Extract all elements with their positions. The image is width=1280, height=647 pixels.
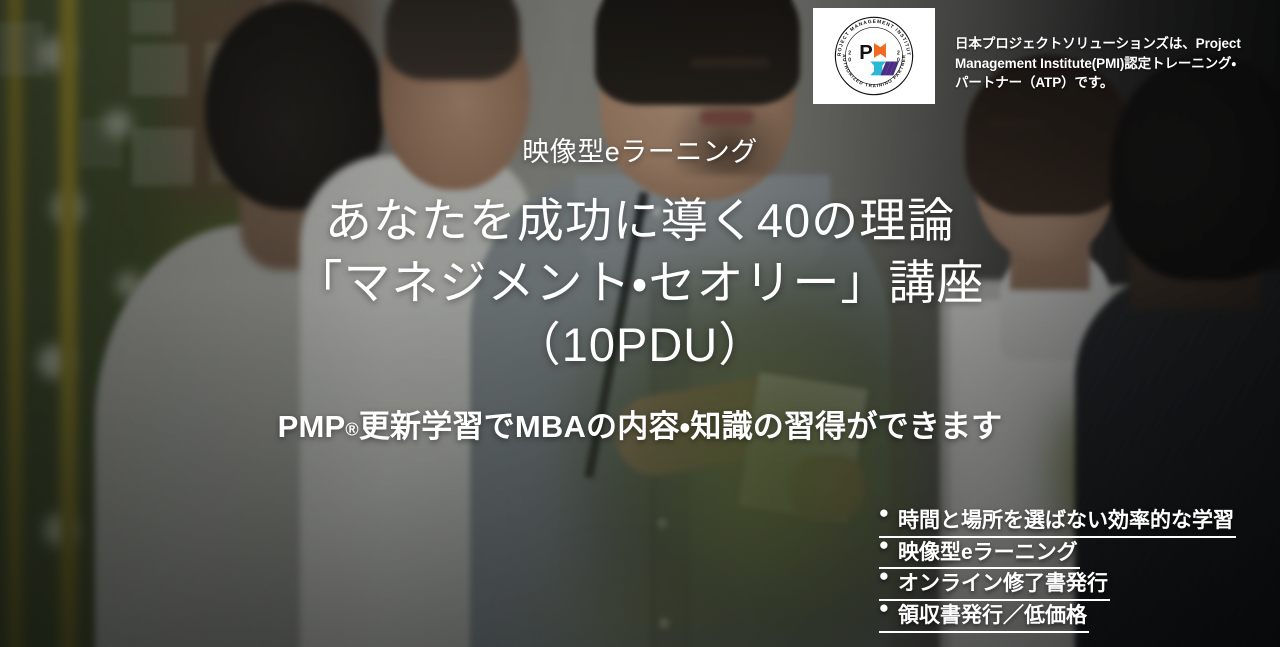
subheadline: PMP®更新学習でMBAの内容・知識の習得ができます — [0, 408, 1280, 447]
headline-stack: 映像型eラーニング あなたを成功に導く40の理論 「マネジメント・セオリー」講座… — [0, 136, 1280, 447]
svg-text:0: 0 — [848, 58, 851, 64]
svg-text:2: 2 — [848, 51, 851, 57]
hero-banner: PROJECT MANAGEMENT INSTITUTE AUTHORIZED … — [0, 0, 1280, 647]
atp-credential-block: PROJECT MANAGEMENT INSTITUTE AUTHORIZED … — [813, 8, 1245, 104]
list-item: ● 時間と場所を選ばない効率的な学習 — [879, 506, 1236, 538]
feature-label: 時間と場所を選ばない効率的な学習 — [898, 506, 1234, 536]
svg-text:2: 2 — [897, 51, 900, 57]
list-item: ● 領収書発行／低価格 — [879, 601, 1089, 633]
list-item: ● 映像型eラーニング — [879, 538, 1080, 570]
feature-label: オンライン修了書発行 — [898, 569, 1108, 599]
registered-trademark-icon: ® — [345, 420, 358, 440]
pmi-atp-seal-icon: PROJECT MANAGEMENT INSTITUTE AUTHORIZED … — [813, 8, 935, 104]
title-line-3: （10PDU） — [0, 314, 1280, 376]
bullet-icon: ● — [879, 567, 889, 597]
eyebrow-label: 映像型eラーニング — [0, 136, 1280, 168]
bullet-icon: ● — [879, 504, 889, 534]
feature-label: 領収書発行／低価格 — [898, 601, 1087, 631]
title-line-1: あなたを成功に導く40の理論 — [0, 190, 1280, 252]
subheadline-text: 更新学習でMBAの内容・知識の習得ができます — [359, 409, 1003, 444]
atp-statement: 日本プロジェクトソリューションズは、Project Management Ins… — [955, 34, 1245, 93]
page-title: あなたを成功に導く40の理論 「マネジメント・セオリー」講座 （10PDU） — [0, 190, 1280, 376]
feature-label: 映像型eラーニング — [898, 538, 1078, 568]
feature-list: ● 時間と場所を選ばない効率的な学習 ● 映像型eラーニング ● オンライン修了… — [879, 506, 1236, 633]
subheadline-brand: PMP — [278, 409, 346, 444]
title-line-2: 「マネジメント・セオリー」講座 — [0, 252, 1280, 314]
bullet-icon: ● — [879, 599, 889, 629]
banner-content: PROJECT MANAGEMENT INSTITUTE AUTHORIZED … — [0, 0, 1280, 647]
list-item: ● オンライン修了書発行 — [879, 569, 1110, 601]
bullet-icon: ● — [879, 536, 889, 566]
svg-text:P: P — [859, 42, 873, 64]
